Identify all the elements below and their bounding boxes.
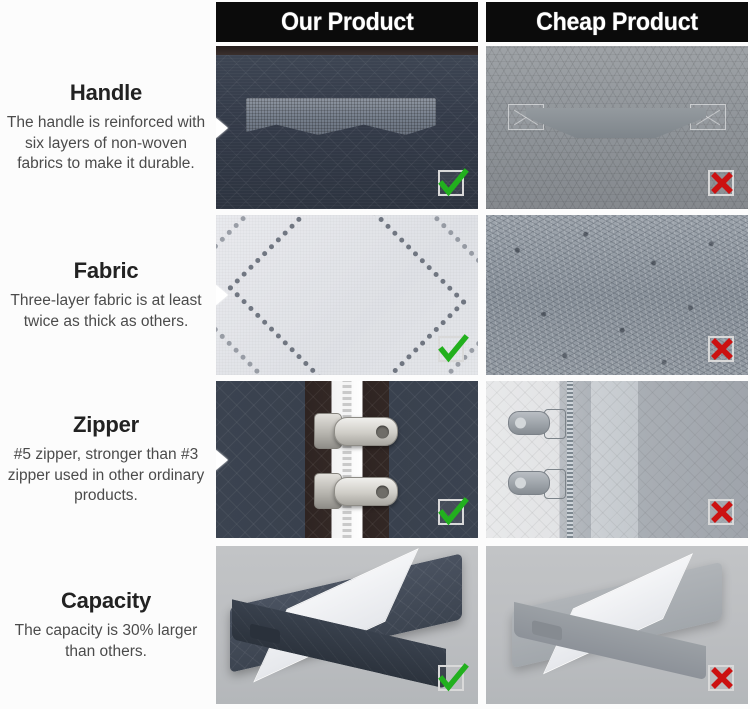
our-product-title: Our Product [281, 8, 414, 37]
row-pointer-icon [216, 284, 228, 306]
header-row: Our Product Cheap Product [0, 0, 750, 44]
comparison-row-capacity: Capacity The capacity is 30% larger than… [0, 546, 750, 704]
cheap-product-image-zipper [486, 381, 748, 538]
feature-description: #5 zipper, stronger than #3 zipper used … [6, 445, 206, 506]
check-icon [436, 496, 468, 528]
our-product-image-fabric [216, 215, 478, 375]
feature-description: The capacity is 30% larger than others. [6, 621, 206, 662]
bag-handle [532, 620, 562, 641]
check-icon [436, 333, 468, 365]
bag-handle [250, 623, 280, 644]
feature-label-handle: Handle The handle is reinforced with six… [0, 46, 212, 209]
storage-bag-cheap [512, 586, 722, 672]
zipper-puller-upper [334, 417, 398, 446]
feature-label-capacity: Capacity The capacity is 30% larger than… [0, 546, 212, 704]
feature-title: Zipper [73, 412, 139, 438]
feature-label-fabric: Fabric Three-layer fabric is at least tw… [0, 215, 212, 375]
cheap-product-image-handle [486, 46, 748, 209]
storage-bag-our [230, 580, 462, 676]
cross-icon [706, 662, 738, 694]
our-product-image-capacity [216, 546, 478, 704]
cross-icon [706, 496, 738, 528]
handle-strap [246, 98, 436, 135]
cheap-product-title: Cheap Product [536, 8, 698, 37]
handle-tab-right [690, 104, 726, 130]
cheap-product-banner: Cheap Product [486, 2, 748, 42]
our-product-image-handle [216, 46, 478, 209]
cheap-product-image-capacity [486, 546, 748, 704]
cross-icon [706, 333, 738, 365]
zipper-puller-upper [508, 411, 550, 435]
feature-label-zipper: Zipper #5 zipper, stronger than #3 zippe… [0, 381, 212, 538]
comparison-row-handle: Handle The handle is reinforced with six… [0, 46, 750, 209]
comparison-row-zipper: Zipper #5 zipper, stronger than #3 zippe… [0, 381, 750, 538]
comparison-row-fabric: Fabric Three-layer fabric is at least tw… [0, 215, 750, 375]
zipper-puller-lower [508, 471, 550, 495]
cross-icon [706, 167, 738, 199]
zipper-teeth [343, 381, 352, 538]
check-icon [436, 662, 468, 694]
feature-title: Capacity [61, 588, 151, 614]
cheap-product-image-fabric [486, 215, 748, 375]
feature-title: Fabric [74, 258, 139, 284]
zipper-puller-lower [334, 477, 398, 506]
check-icon [436, 167, 468, 199]
handle-tab-left [508, 104, 544, 130]
feature-description: The handle is reinforced with six layers… [6, 113, 206, 174]
row-pointer-icon [216, 117, 228, 139]
zipper-teeth [567, 381, 573, 538]
feature-title: Handle [70, 80, 142, 106]
our-product-image-zipper [216, 381, 478, 538]
row-pointer-icon [216, 449, 228, 471]
our-product-banner: Our Product [216, 2, 478, 42]
comparison-chart: Our Product Cheap Product Handle The han… [0, 0, 750, 709]
feature-description: Three-layer fabric is at least twice as … [6, 291, 206, 332]
